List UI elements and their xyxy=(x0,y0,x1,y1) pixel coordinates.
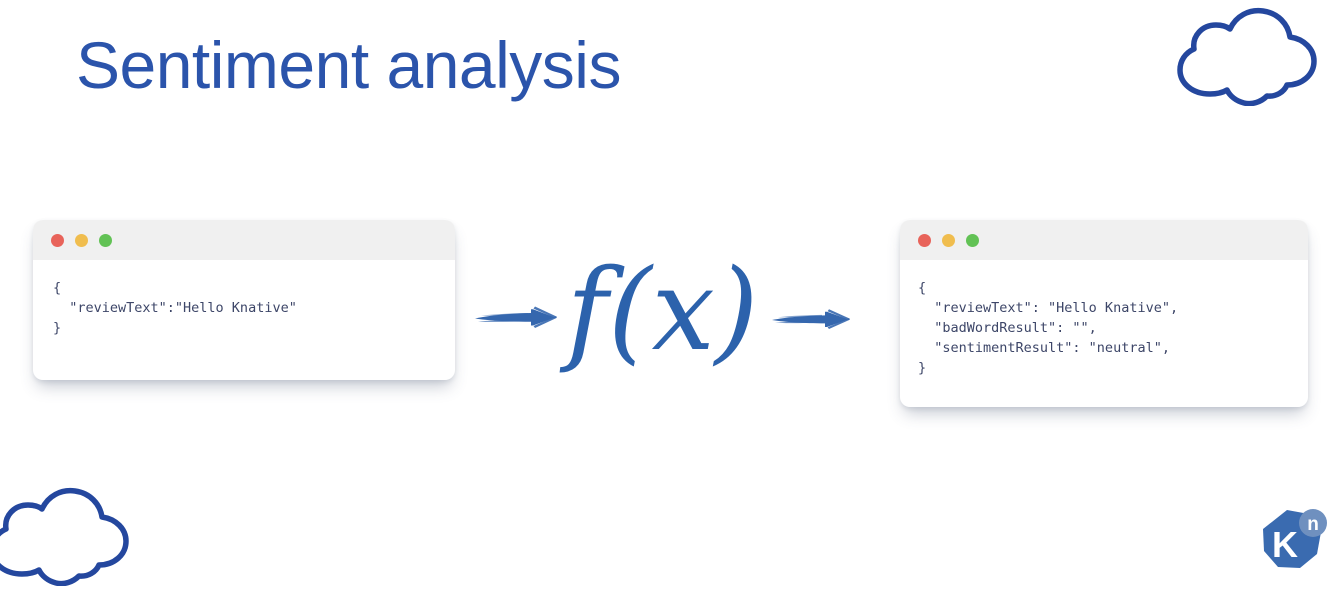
code-line: "sentimentResult": "neutral", xyxy=(900,338,1308,358)
code-line: "reviewText":"Hello Knative" xyxy=(33,298,455,318)
cloud-bottom-left-icon xyxy=(0,486,134,586)
window-titlebar xyxy=(900,220,1308,260)
output-json-window: { "reviewText": "Hello Knative", "badWor… xyxy=(900,220,1308,407)
code-line: "badWordResult": "", xyxy=(900,318,1308,338)
maximize-dot[interactable] xyxy=(99,234,112,247)
maximize-dot[interactable] xyxy=(966,234,979,247)
code-line: { xyxy=(33,278,455,298)
arrow-function-to-output-icon xyxy=(772,300,872,338)
window-titlebar xyxy=(33,220,455,260)
page-title: Sentiment analysis xyxy=(76,28,621,104)
slide-canvas: Sentiment analysis { "reviewText":"Hello… xyxy=(0,0,1341,585)
minimize-dot[interactable] xyxy=(942,234,955,247)
svg-text:K: K xyxy=(1272,524,1298,565)
code-line: } xyxy=(33,318,455,338)
code-body: { "reviewText": "Hello Knative", "badWor… xyxy=(900,260,1308,378)
close-dot[interactable] xyxy=(918,234,931,247)
code-line: } xyxy=(900,358,1308,378)
function-label: f(x) xyxy=(565,246,760,376)
knative-logo-icon: K n xyxy=(1255,504,1329,578)
code-body: { "reviewText":"Hello Knative" } xyxy=(33,260,455,338)
close-dot[interactable] xyxy=(51,234,64,247)
code-line: "reviewText": "Hello Knative", xyxy=(900,298,1308,318)
code-line: { xyxy=(900,278,1308,298)
svg-text:n: n xyxy=(1307,514,1319,535)
minimize-dot[interactable] xyxy=(75,234,88,247)
cloud-top-right-icon xyxy=(1166,6,1322,106)
input-json-window: { "reviewText":"Hello Knative" } xyxy=(33,220,455,380)
